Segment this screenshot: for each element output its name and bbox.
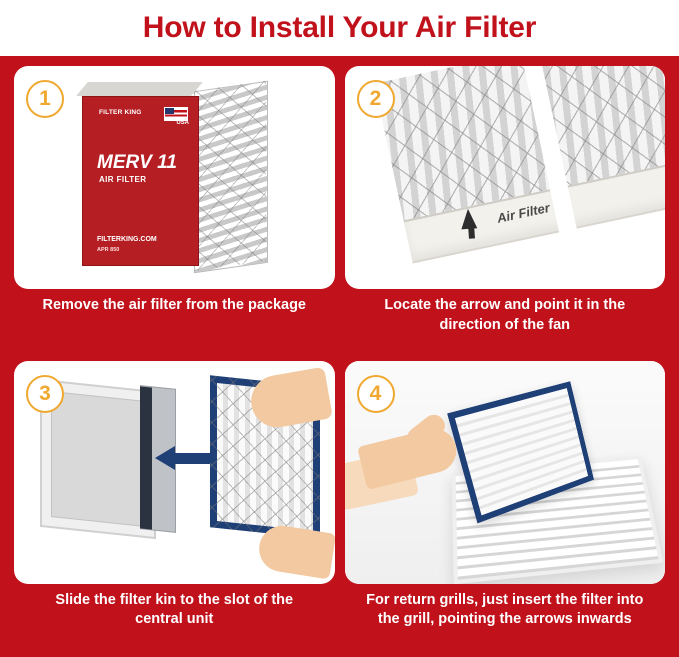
filter-body: Air Filter <box>374 66 665 289</box>
usa-flag-icon <box>164 107 188 121</box>
step-3: 3 Slide the filter kin to the slot of th… <box>14 361 335 646</box>
step-4: 4 For return grills, just insert the fil… <box>345 361 666 646</box>
page-title: How to Install Your Air Filter <box>143 11 536 45</box>
step-2-card: 2 Air Filter <box>345 66 666 289</box>
step-3-number: 3 <box>26 375 64 413</box>
step-1-card: 1 FILTER KING USA MERV 11 AIR FILTER FIL… <box>14 66 335 289</box>
merv-rating-label: MERV 11 <box>97 152 177 174</box>
step-1: 1 FILTER KING USA MERV 11 AIR FILTER FIL… <box>14 66 335 351</box>
country-label: USA <box>176 120 189 126</box>
step-4-number: 4 <box>357 375 395 413</box>
infographic-root: How to Install Your Air Filter 1 FILTER … <box>0 0 679 657</box>
step-3-caption: Slide the filter kin to the slot of the … <box>14 584 335 630</box>
steps-grid: 1 FILTER KING USA MERV 11 AIR FILTER FIL… <box>0 56 679 657</box>
step-4-caption: For return grills, just insert the filte… <box>345 584 666 630</box>
step-3-card: 3 <box>14 361 335 584</box>
filter-box-front: FILTER KING USA MERV 11 AIR FILTER FILTE… <box>82 96 199 266</box>
hand-lower-icon <box>255 522 334 579</box>
product-line-label: AIR FILTER <box>99 175 146 184</box>
airflow-arrow-tail-icon <box>468 226 475 238</box>
filter-box-top <box>76 82 203 96</box>
filter-mesh-icon <box>194 81 266 271</box>
website-label: FILTERKING.COM <box>97 236 157 243</box>
central-unit-face <box>51 391 145 527</box>
title-bar: How to Install Your Air Filter <box>0 0 679 56</box>
step-4-card: 4 <box>345 361 666 584</box>
step-2: 2 Air Filter Locate the arrow and point … <box>345 66 666 351</box>
step-1-number: 1 <box>26 80 64 118</box>
brand-label: FILTER KING <box>99 109 142 116</box>
step-1-caption: Remove the air filter from the package <box>25 289 325 316</box>
filter-slot-opening <box>140 386 152 529</box>
apr-label: APR 850 <box>97 247 119 253</box>
boxed-air-filter-illustration: FILTER KING USA MERV 11 AIR FILTER FILTE… <box>76 92 266 272</box>
step-2-caption: Locate the arrow and point it in the dir… <box>345 289 666 335</box>
step-2-number: 2 <box>357 80 395 118</box>
